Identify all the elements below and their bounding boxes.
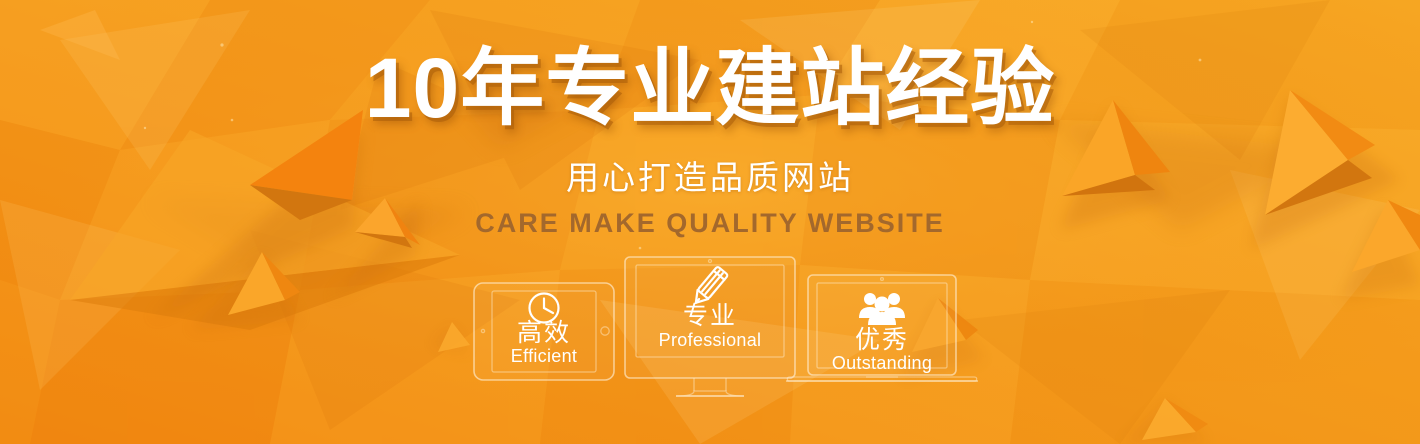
- tablet-label-cn: 高效: [517, 319, 571, 347]
- tablet-label-en: Efficient: [511, 346, 577, 366]
- feature-card-monitor[interactable]: 专业 Professional: [625, 257, 795, 396]
- monitor-label-cn: 专业: [683, 302, 737, 330]
- feature-card-tablet[interactable]: 高效 Efficient: [474, 283, 614, 380]
- headline: 10年专业建站经验: [0, 0, 1420, 136]
- subtitle-chinese: 用心打造品质网站: [0, 136, 1420, 198]
- laptop-label-cn: 优秀: [855, 326, 909, 354]
- subtitle-english: CARE MAKE QUALITY WEBSITE: [0, 198, 1420, 239]
- feature-device-row: 高效 Efficient: [0, 248, 1420, 408]
- promo-banner: 10年专业建站经验 用心打造品质网站 CARE MAKE QUALITY WEB…: [0, 0, 1420, 444]
- feature-card-laptop[interactable]: 优秀 Outstanding: [786, 275, 978, 381]
- laptop-label-en: Outstanding: [832, 353, 932, 373]
- banner-text-block: 10年专业建站经验 用心打造品质网站 CARE MAKE QUALITY WEB…: [0, 0, 1420, 239]
- monitor-label-en: Professional: [659, 330, 762, 350]
